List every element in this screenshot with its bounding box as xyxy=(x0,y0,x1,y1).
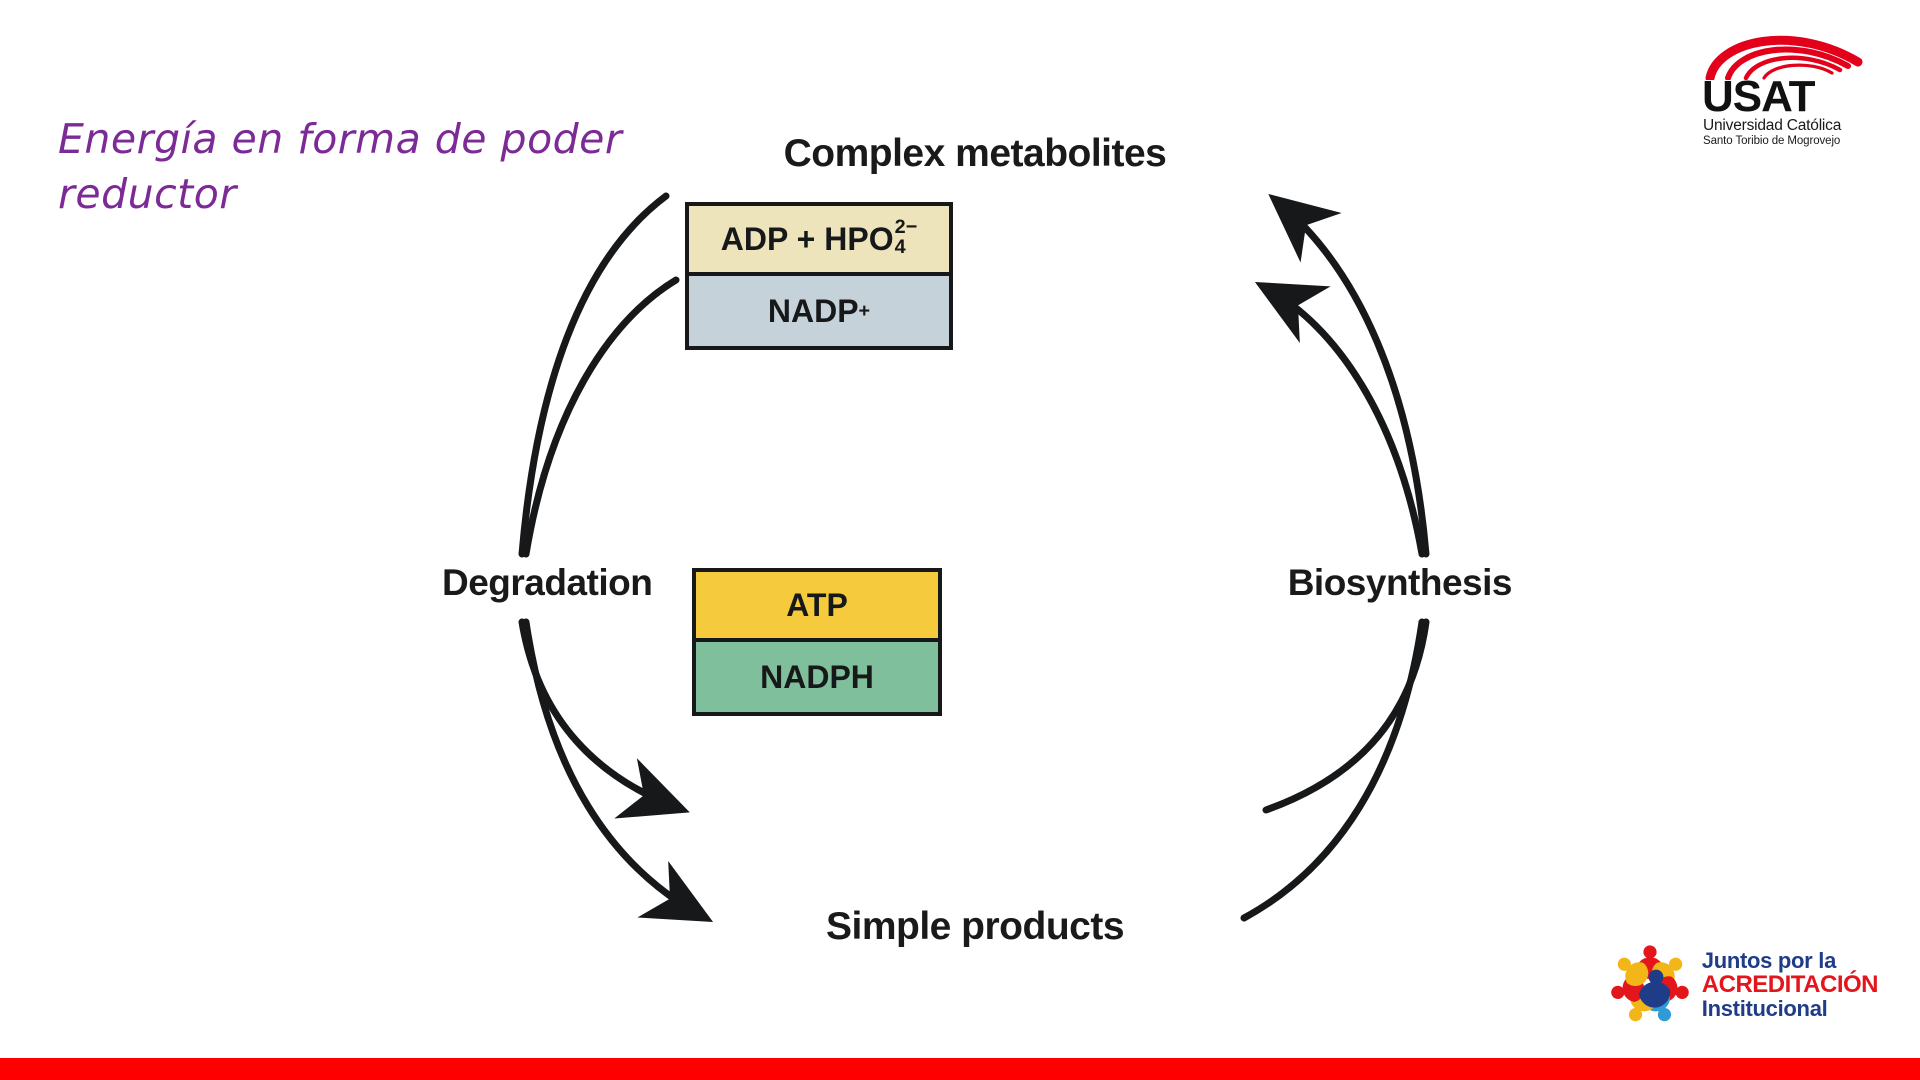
metabolism-cycle-diagram: Complex metabolites Degradation Biosynth… xyxy=(430,130,1520,990)
label-biosynthesis: Biosynthesis xyxy=(1288,562,1512,604)
bottom-accent-bar xyxy=(0,1058,1920,1080)
label-complex-metabolites: Complex metabolites xyxy=(784,132,1167,176)
accreditation-logo: Juntos por la ACREDITACIÓN Institucional xyxy=(1604,942,1878,1028)
people-circle-icon xyxy=(1604,942,1696,1028)
accreditation-line2: ACREDITACIÓN xyxy=(1702,973,1878,997)
cycle-arrows-graphic xyxy=(430,130,1520,990)
label-degradation: Degradation xyxy=(442,562,652,604)
arrow-degradation-to-simple-path xyxy=(526,622,702,916)
usat-arc-graphic xyxy=(1698,28,1868,80)
accreditation-text: Juntos por la ACREDITACIÓN Institucional xyxy=(1702,950,1878,1020)
usat-wordmark: USAT xyxy=(1698,76,1868,117)
usat-arc-icon xyxy=(1698,28,1868,80)
nadph-row: NADPH xyxy=(696,642,938,712)
phosphate-subscript: 4 xyxy=(895,238,918,258)
adp-phosphate-row: ADP + HPO2−4 xyxy=(689,206,949,276)
atp-row: ATP xyxy=(696,572,938,642)
usat-logo: USAT Universidad Católica Santo Toribio … xyxy=(1698,28,1868,146)
arrow-complex-to-degradation-path xyxy=(522,196,666,554)
label-simple-products: Simple products xyxy=(826,905,1124,949)
atp-nadph-box: ATP NADPH xyxy=(692,568,942,716)
arrow-adp-box-to-degradation-path xyxy=(526,280,676,554)
accreditation-line1: Juntos por la xyxy=(1702,950,1878,972)
adp-text: ADP + HPO xyxy=(721,221,894,258)
usat-subtitle-line2: Santo Toribio de Mogrovejo xyxy=(1698,135,1868,148)
adp-nadp-box: ADP + HPO2−4 NADP+ xyxy=(685,202,953,350)
arrow-biosynthesis-to-nadp-box-path xyxy=(1266,288,1422,554)
nadp-text: NADP xyxy=(768,293,859,330)
nadp-plus-row: NADP+ xyxy=(689,276,949,346)
arrow-biosynthesis-to-complex-path xyxy=(1278,202,1426,554)
phosphate-charge-script: 2−4 xyxy=(895,218,918,258)
arrow-simple-to-biosynthesis-path xyxy=(1244,622,1422,918)
accreditation-line3: Institucional xyxy=(1702,998,1878,1020)
usat-subtitle-line1: Universidad Católica xyxy=(1698,117,1868,135)
